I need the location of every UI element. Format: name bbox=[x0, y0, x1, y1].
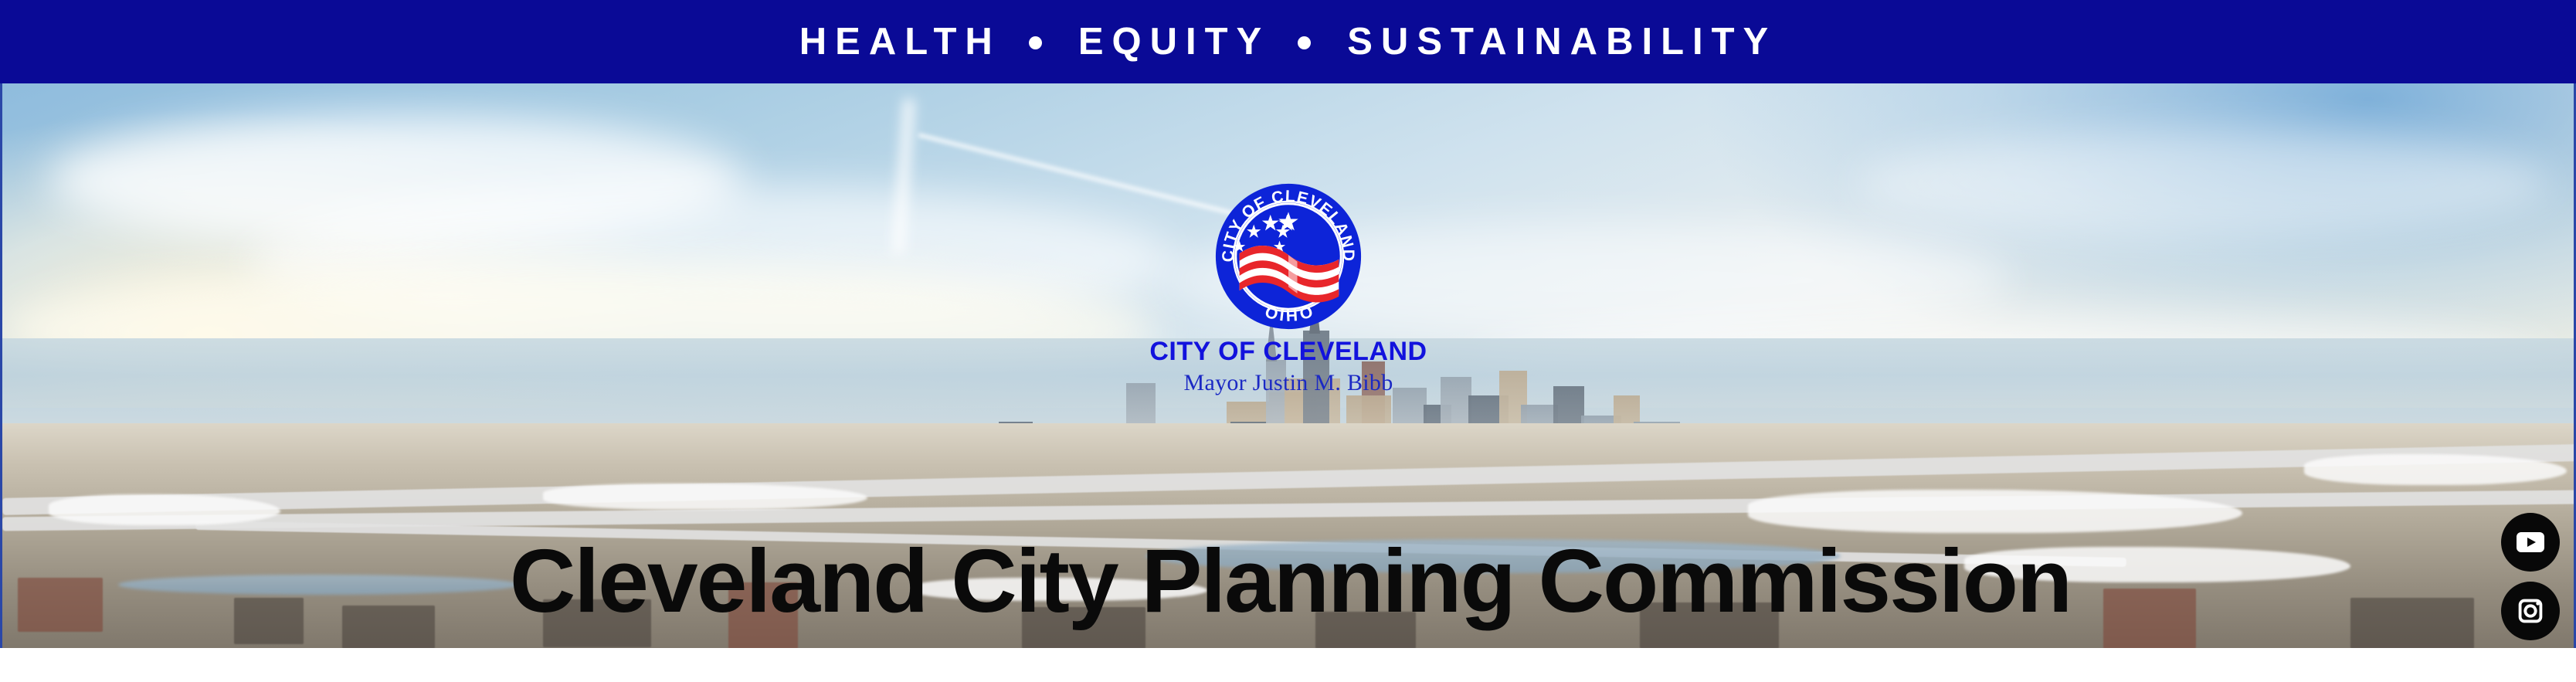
snow-patch bbox=[2304, 454, 2567, 485]
instagram-icon bbox=[2513, 593, 2548, 629]
tagline-word-sustainability: SUSTAINABILITY bbox=[1347, 23, 1777, 61]
hero-photo: CITY OF CLEVELAND OHIO bbox=[0, 83, 2576, 648]
page-title: Cleveland City Planning Commission bbox=[0, 536, 2576, 626]
footer-whitespace bbox=[0, 648, 2576, 682]
org-name: CITY OF CLEVELAND bbox=[1103, 338, 1474, 366]
instagram-link[interactable] bbox=[2501, 582, 2560, 640]
social-links bbox=[2500, 513, 2561, 648]
city-branding-block: CITY OF CLEVELAND OHIO bbox=[1103, 182, 1474, 395]
youtube-icon bbox=[2512, 524, 2549, 561]
page-root: HEALTH EQUITY SUSTAINABILITY bbox=[0, 0, 2576, 682]
bullet-separator-icon bbox=[1029, 36, 1042, 49]
tagline-banner: HEALTH EQUITY SUSTAINABILITY bbox=[0, 0, 2576, 83]
tagline-word-equity: EQUITY bbox=[1078, 23, 1270, 61]
tagline-inner: HEALTH EQUITY SUSTAINABILITY bbox=[799, 23, 1777, 61]
snow-patch bbox=[543, 484, 867, 510]
city-of-cleveland-seal-icon: CITY OF CLEVELAND OHIO bbox=[1214, 182, 1363, 331]
bullet-separator-icon bbox=[1298, 36, 1311, 49]
tagline-word-health: HEALTH bbox=[799, 23, 1001, 61]
snow-patch bbox=[49, 494, 280, 525]
cloud-shape bbox=[1856, 130, 2551, 238]
mayor-line: Mayor Justin M. Bibb bbox=[1103, 371, 1474, 395]
youtube-link[interactable] bbox=[2501, 513, 2560, 572]
